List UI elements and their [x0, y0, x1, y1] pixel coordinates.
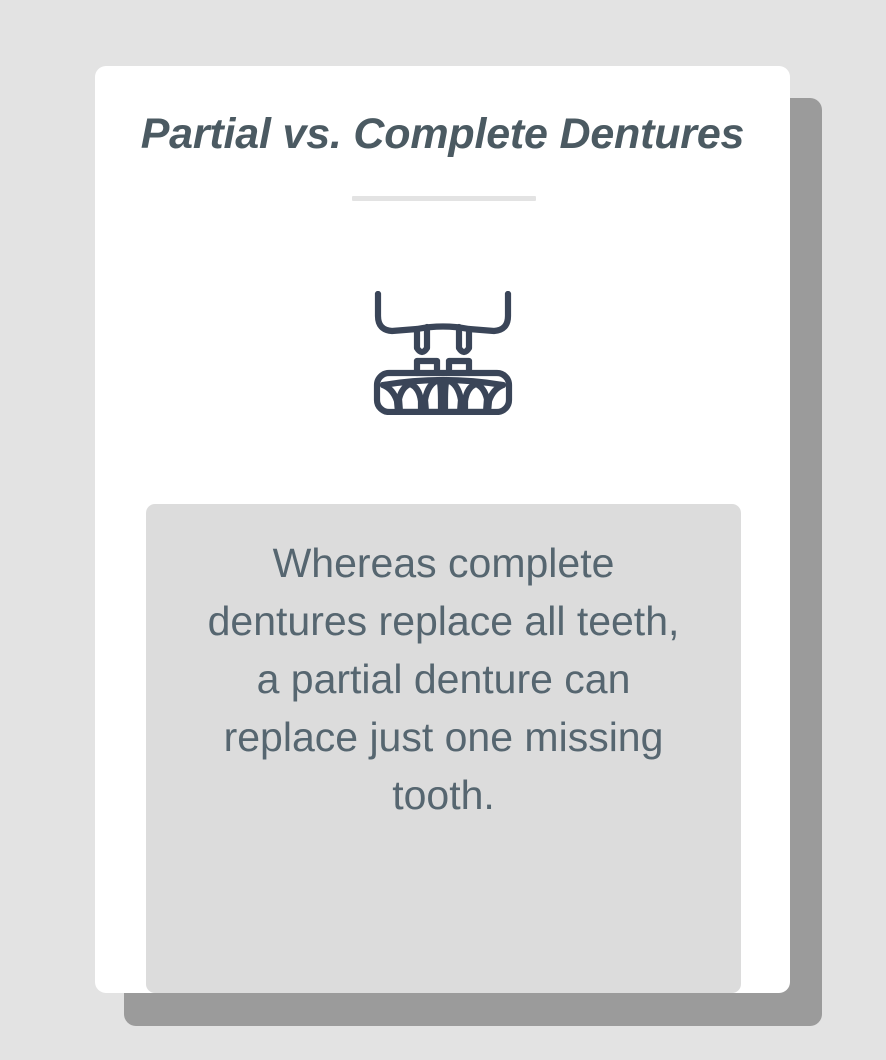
page-canvas: Partial vs. Complete Dentures — [0, 0, 886, 1060]
title-divider — [352, 196, 536, 201]
page-title: Partial vs. Complete Dentures — [95, 110, 790, 159]
info-card: Partial vs. Complete Dentures — [95, 66, 790, 993]
partial-denture-icon — [95, 288, 790, 418]
description-text: Whereas complete dentures replace all te… — [146, 534, 741, 824]
description-panel: Whereas complete dentures replace all te… — [146, 504, 741, 993]
partial-denture-glyph — [373, 291, 513, 415]
